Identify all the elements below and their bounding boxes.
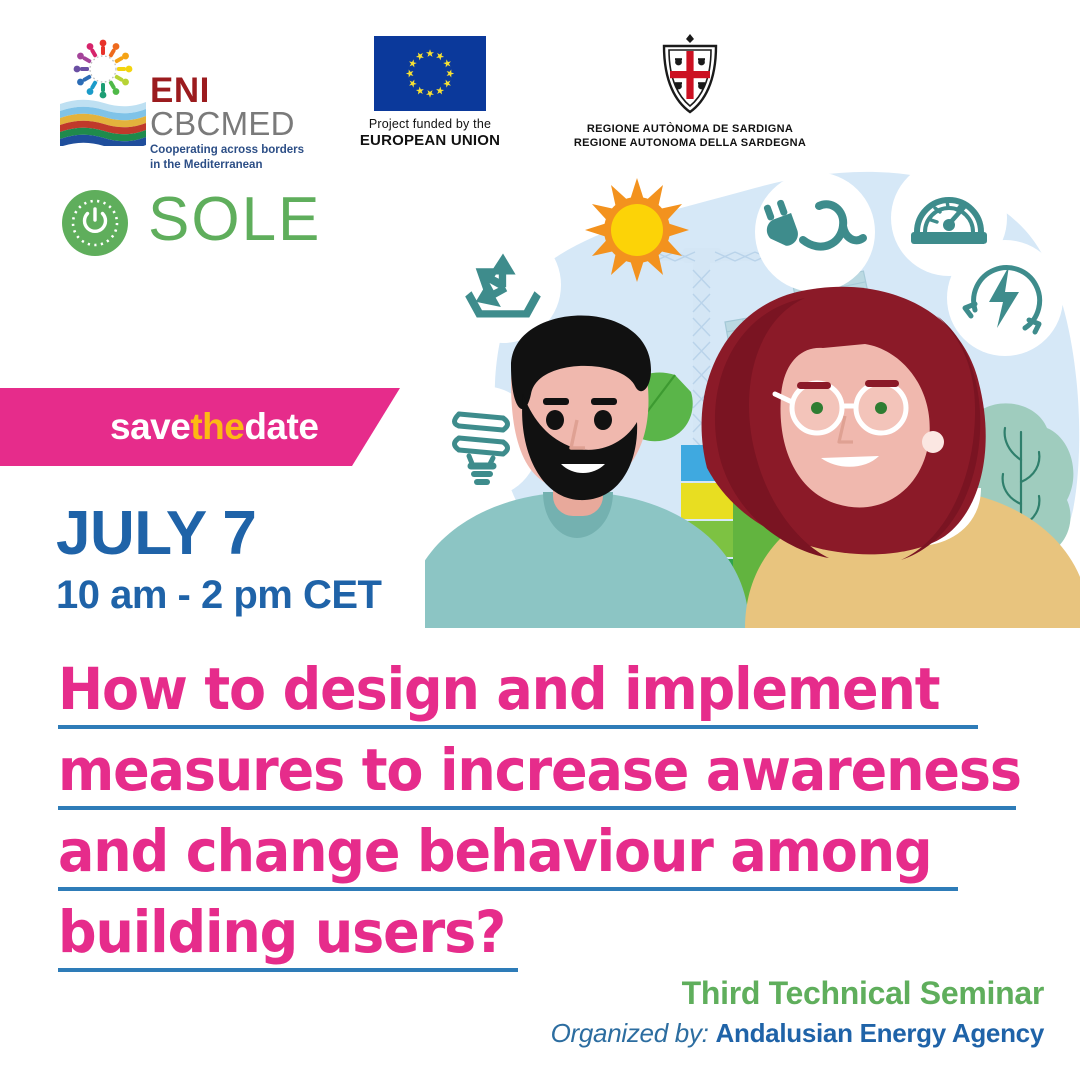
footer-block: Third Technical Seminar Organized by: An…	[551, 975, 1044, 1049]
headline-text-3: and change behaviour among	[58, 822, 988, 880]
headline-line-2: measures to increase awareness	[58, 741, 1058, 810]
poster-canvas: ENI CBCMED Cooperating across borders in…	[0, 0, 1080, 1080]
cbcmed-label: CBCMED	[150, 107, 304, 140]
event-time: 10 am - 2 pm CET	[56, 575, 381, 615]
organizer-name: Andalusian Energy Agency	[716, 1018, 1044, 1048]
plug-icon-bubble	[755, 172, 875, 292]
headline-line-4: building users?	[58, 903, 1058, 972]
seminar-title: Third Technical Seminar	[551, 975, 1044, 1012]
sole-power-button-sun-icon	[60, 188, 130, 258]
headline-text-4: building users?	[58, 903, 988, 961]
sole-wordmark: SOLE	[148, 184, 321, 255]
eni-cbcmed-logo: ENI CBCMED Cooperating across borders in…	[58, 36, 338, 151]
banner-word-save: save	[110, 406, 190, 447]
eni-tagline-line2: in the Mediterranean	[150, 158, 304, 172]
eni-label: ENI	[150, 74, 304, 107]
sardinia-region-logo: REGIONE AUTÒNOMA DE SARDIGNA REGIONE AUT…	[560, 30, 820, 155]
save-the-date-text: savethedate	[110, 406, 318, 448]
headline-line-1: How to design and implement	[58, 660, 1058, 729]
sardinia-label-sardinian: REGIONE AUTÒNOMA DE SARDIGNA	[560, 123, 820, 135]
page-title: How to design and implement measures to …	[58, 660, 1058, 984]
european-union-flag-icon	[374, 36, 486, 111]
save-the-date-banner: savethedate	[0, 388, 400, 466]
event-date: JULY 7	[56, 503, 381, 565]
energy-efficiency-people-illustration	[425, 170, 1080, 628]
sole-project-logo: SOLE	[60, 188, 390, 266]
eni-cbcmed-sun-and-waves-icon	[58, 36, 148, 146]
event-date-block: JULY 7 10 am - 2 pm CET	[56, 503, 381, 615]
renewable-energy-bolt-icon-bubble	[947, 240, 1063, 356]
headline-text-2: measures to increase awareness	[58, 741, 988, 799]
headline-rule-4	[58, 968, 518, 972]
eu-caption-line1: Project funded by the	[350, 117, 510, 131]
headline-rule-1	[58, 725, 978, 729]
headline-line-3: and change behaviour among	[58, 822, 1058, 891]
organized-by-label: Organized by:	[551, 1018, 709, 1048]
sardinia-label-italian: REGIONE AUTONOMA DELLA SARDEGNA	[560, 137, 820, 149]
logo-bar: ENI CBCMED Cooperating across borders in…	[0, 0, 1080, 170]
banner-word-date: date	[244, 406, 318, 447]
eu-caption-line2: EUROPEAN UNION	[350, 132, 510, 149]
banner-word-the: the	[190, 406, 244, 447]
eni-tagline-line1: Cooperating across borders	[150, 143, 304, 157]
organizer-line: Organized by: Andalusian Energy Agency	[551, 1018, 1044, 1049]
headline-rule-3	[58, 887, 958, 891]
eni-cbcmed-wordmark: ENI CBCMED Cooperating across borders in…	[150, 74, 304, 172]
headline-rule-2	[58, 806, 1016, 810]
headline-text-1: How to design and implement	[58, 660, 988, 718]
european-union-logo: Project funded by the EUROPEAN UNION	[350, 36, 510, 151]
sardinia-four-moors-coat-of-arms-icon	[650, 30, 730, 118]
